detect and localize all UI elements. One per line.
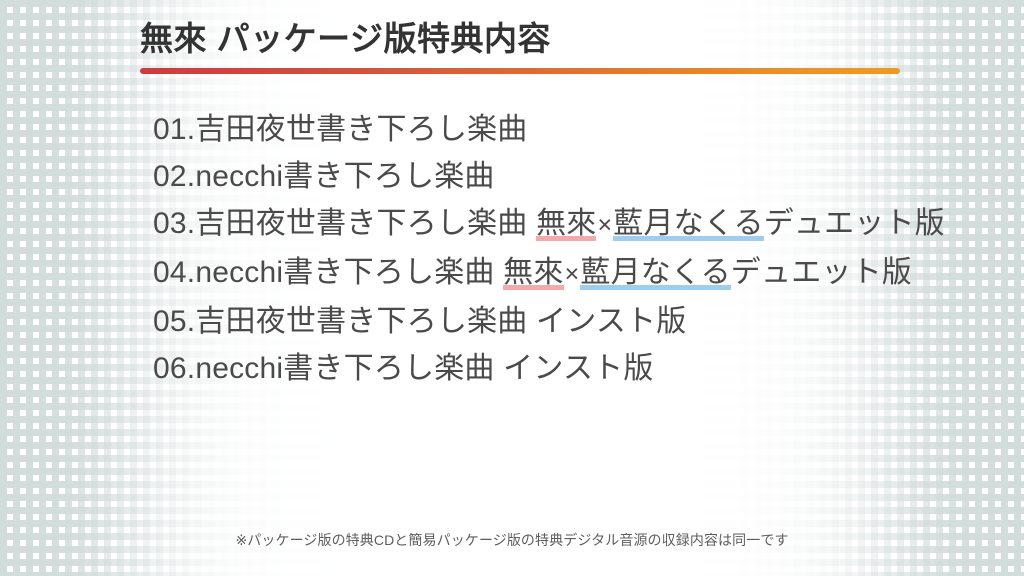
list-item-text: × — [596, 211, 613, 239]
title-block: 無來 パッケージ版特典内容 — [140, 18, 900, 74]
highlighted-text-blue: 藍月なくる — [580, 256, 730, 290]
highlighted-text-blue: 藍月なくる — [613, 207, 763, 241]
list-item-text: necchi書き下ろし楽曲 — [195, 160, 494, 193]
list-item-text: necchi書き下ろし楽曲 インスト版 — [195, 352, 653, 385]
list-item-number: 02. — [153, 160, 195, 193]
list-item: 06.necchi書き下ろし楽曲 インスト版 — [153, 345, 973, 392]
list-item-text: 吉田夜世書き下ろし楽曲 — [195, 207, 536, 240]
slide-canvas: 無來 パッケージ版特典内容 01.吉田夜世書き下ろし楽曲02.necchi書き下… — [0, 0, 1024, 576]
list-item-text: デュエット版 — [731, 256, 912, 289]
list-item-number: 01. — [153, 113, 195, 146]
list-item: 01.吉田夜世書き下ろし楽曲 — [153, 106, 973, 153]
highlighted-text-pink: 無來 — [503, 256, 563, 290]
list-item: 05.吉田夜世書き下ろし楽曲 インスト版 — [153, 298, 973, 345]
list-item-number: 03. — [153, 207, 195, 240]
list-item-text: × — [564, 260, 581, 288]
list-item-text: 吉田夜世書き下ろし楽曲 インスト版 — [195, 305, 686, 338]
title-underline-rule — [140, 68, 900, 74]
slide-content: 無來 パッケージ版特典内容 01.吉田夜世書き下ろし楽曲02.necchi書き下… — [0, 0, 1024, 576]
list-item-text: デュエット版 — [764, 207, 945, 240]
list-item-number: 04. — [153, 256, 195, 289]
footnote-note: ※パッケージ版の特典CDと簡易パッケージ版の特典デジタル音源の収録内容は同一です — [0, 530, 1024, 550]
bonus-track-list: 01.吉田夜世書き下ろし楽曲02.necchi書き下ろし楽曲03.吉田夜世書き下… — [153, 106, 973, 392]
list-item: 04.necchi書き下ろし楽曲 無來×藍月なくるデュエット版 — [153, 249, 973, 298]
list-item-number: 05. — [153, 305, 195, 338]
highlighted-text-pink: 無來 — [536, 207, 596, 241]
list-item-number: 06. — [153, 352, 195, 385]
list-item-text: 吉田夜世書き下ろし楽曲 — [195, 113, 527, 146]
list-item-text: necchi書き下ろし楽曲 — [195, 256, 503, 289]
list-item: 03.吉田夜世書き下ろし楽曲 無來×藍月なくるデュエット版 — [153, 200, 973, 249]
page-title: 無來 パッケージ版特典内容 — [140, 18, 900, 59]
list-item: 02.necchi書き下ろし楽曲 — [153, 153, 973, 200]
